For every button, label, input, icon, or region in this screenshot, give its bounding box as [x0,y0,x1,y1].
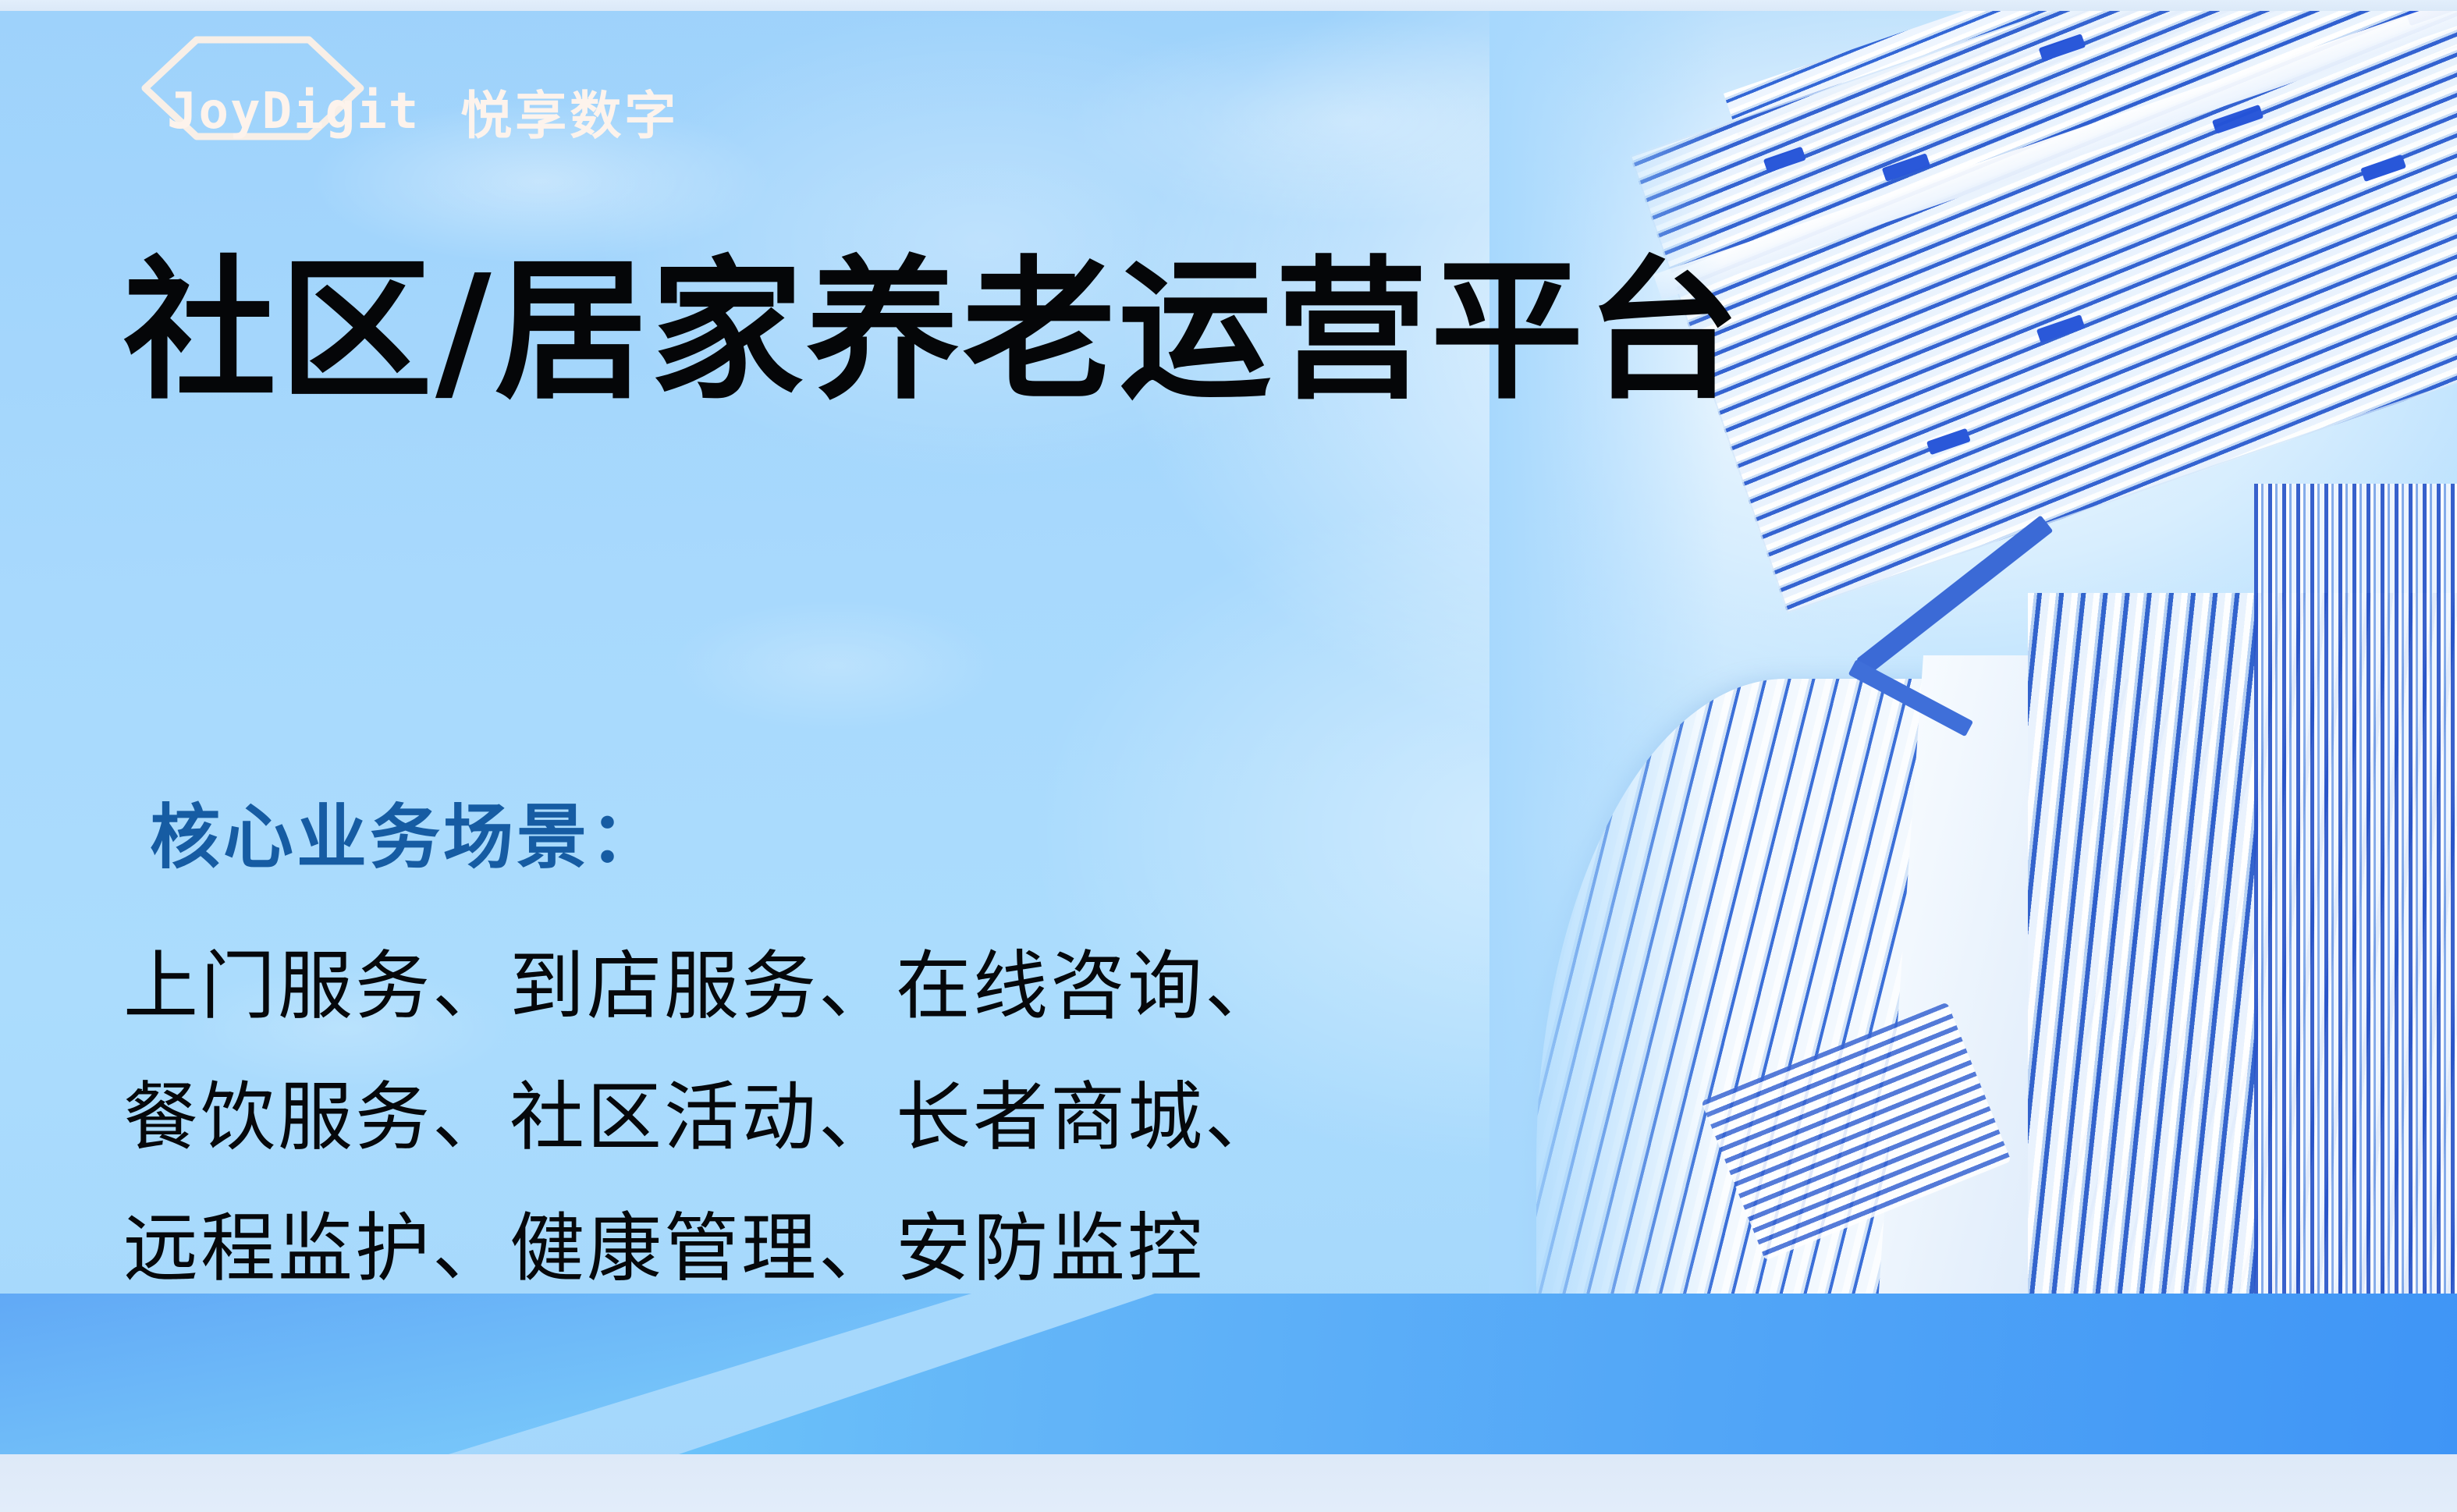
brand-logo: JoyDigit 悦享数字 [140,69,679,154]
logo-wordmark: JoyDigit [167,83,420,140]
bottom-edge-strip [0,1454,2457,1512]
logo-chinese-name: 悦享数字 [460,74,679,149]
scenario-line: 上门服务、到店服务、在线咨询、 [123,921,1606,1052]
bottom-ribbon [0,1294,2457,1454]
business-scenarios-list: 上门服务、到店服务、在线咨询、 餐饮服务、社区活动、长者商城、 远程监护、健康管… [123,921,1606,1314]
scenario-line: 远程监护、健康管理、安防监控 [123,1183,1606,1314]
page-title: 社区/居家养老运营平台 [123,251,1743,413]
slide-root: JoyDigit 悦享数字 社区/居家养老运营平台 核心业务场景： 上门服务、到… [0,0,2457,1512]
section-heading: 核心业务场景： [150,780,663,882]
scenario-line: 餐饮服务、社区活动、长者商城、 [123,1052,1606,1183]
top-edge-strip [0,0,2457,11]
